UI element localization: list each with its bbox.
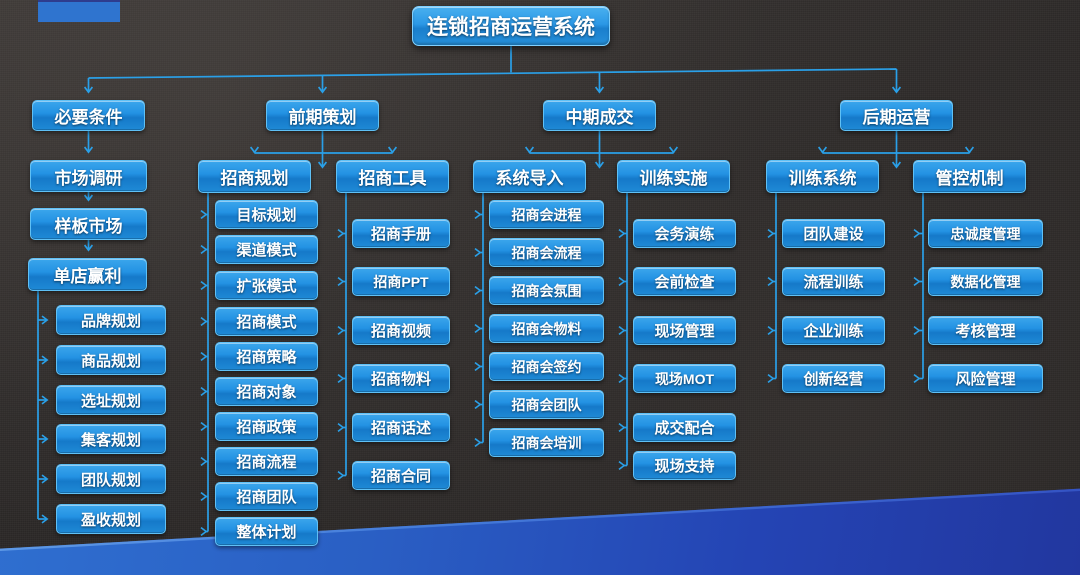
- node-招商政策[interactable]: 招商政策: [215, 412, 318, 441]
- branch-node-1[interactable]: 必要条件: [32, 100, 145, 131]
- node-label: 流程训练: [803, 271, 863, 292]
- node-会前检查[interactable]: 会前检查: [633, 267, 736, 296]
- node-label: 成交配合: [654, 417, 714, 438]
- node-招商会团队[interactable]: 招商会团队: [489, 390, 604, 419]
- node-忠诚度管理[interactable]: 忠诚度管理: [928, 219, 1043, 248]
- node-招商会培训[interactable]: 招商会培训: [489, 428, 604, 457]
- node-label: 招商手册: [371, 223, 431, 244]
- node-现场MOT[interactable]: 现场MOT: [633, 364, 736, 393]
- node-label: 招商政策: [236, 416, 296, 437]
- node-label: 招商会流程: [512, 243, 582, 263]
- node-label: 招商流程: [236, 451, 296, 472]
- node-label: 考核管理: [955, 320, 1015, 341]
- node-招商会签约[interactable]: 招商会签约: [489, 352, 604, 381]
- node-label: 后期运营: [863, 103, 931, 128]
- node-招商对象[interactable]: 招商对象: [215, 377, 318, 406]
- node-选址规划[interactable]: 选址规划: [56, 385, 166, 415]
- node-招商团队[interactable]: 招商团队: [215, 482, 318, 511]
- node-label: 招商会进程: [512, 205, 582, 225]
- node-商品规划[interactable]: 商品规划: [56, 345, 166, 375]
- node-label: 必要条件: [55, 103, 123, 128]
- node-数据化管理[interactable]: 数据化管理: [928, 267, 1043, 296]
- node-label: 选址规划: [81, 390, 141, 411]
- node-会务演练[interactable]: 会务演练: [633, 219, 736, 248]
- node-label: 样板市场: [55, 212, 123, 237]
- node-label: 招商会签约: [512, 357, 582, 377]
- node-label: 招商对象: [236, 381, 296, 402]
- node-label: 连锁招商运营系统: [427, 11, 595, 41]
- node-市场调研[interactable]: 市场调研: [30, 160, 147, 192]
- node-label: 企业训练: [803, 320, 863, 341]
- node-团队建设[interactable]: 团队建设: [782, 219, 885, 248]
- branch-node-2[interactable]: 前期策划: [266, 100, 379, 131]
- node-label: 招商模式: [236, 311, 296, 332]
- node-label: 训练系统: [789, 164, 857, 189]
- node-样板市场[interactable]: 样板市场: [30, 208, 147, 240]
- diagram-canvas: 赢家商学院 连锁招商运营系统必要条件市场调研样板市场单店赢利品牌规划商品规划选址…: [0, 0, 1080, 575]
- node-label: 招商会物料: [512, 319, 582, 339]
- node-label: 团队规划: [81, 469, 141, 490]
- node-label: 市场调研: [55, 164, 123, 189]
- group-node-4-1[interactable]: 训练系统: [766, 160, 879, 193]
- node-label: 招商规划: [221, 164, 289, 189]
- node-label: 招商工具: [359, 164, 427, 189]
- node-扩张模式[interactable]: 扩张模式: [215, 271, 318, 300]
- node-label: 会务演练: [654, 223, 714, 244]
- node-label: 管控机制: [936, 164, 1004, 189]
- node-label: 训练实施: [640, 164, 708, 189]
- node-label: 风险管理: [955, 368, 1015, 389]
- node-label: 团队建设: [803, 223, 863, 244]
- node-label: 招商物料: [371, 368, 431, 389]
- branch-node-4[interactable]: 后期运营: [840, 100, 953, 131]
- node-目标规划[interactable]: 目标规划: [215, 200, 318, 229]
- node-label: 忠诚度管理: [951, 224, 1021, 244]
- node-label: 招商会团队: [512, 395, 582, 415]
- node-招商手册[interactable]: 招商手册: [352, 219, 450, 248]
- node-招商合同[interactable]: 招商合同: [352, 461, 450, 490]
- node-团队规划[interactable]: 团队规划: [56, 464, 166, 494]
- node-成交配合[interactable]: 成交配合: [633, 413, 736, 442]
- node-label: 中期成交: [566, 103, 634, 128]
- node-招商视频[interactable]: 招商视频: [352, 316, 450, 345]
- node-label: 招商合同: [371, 465, 431, 486]
- node-label: 品牌规划: [81, 310, 141, 331]
- group-node-2-2[interactable]: 招商工具: [336, 160, 449, 193]
- node-label: 数据化管理: [951, 272, 1021, 292]
- node-招商会进程[interactable]: 招商会进程: [489, 200, 604, 229]
- node-label: 会前检查: [654, 271, 714, 292]
- node-label: 渠道模式: [236, 239, 296, 260]
- node-label: 目标规划: [236, 204, 296, 225]
- node-label: 前期策划: [289, 103, 357, 128]
- node-label: 单店赢利: [54, 262, 122, 287]
- node-label: 盈收规划: [81, 509, 141, 530]
- node-招商策略[interactable]: 招商策略: [215, 342, 318, 371]
- node-渠道模式[interactable]: 渠道模式: [215, 235, 318, 264]
- node-label: 创新经营: [803, 368, 863, 389]
- node-招商会氛围[interactable]: 招商会氛围: [489, 276, 604, 305]
- node-label: 商品规划: [81, 350, 141, 371]
- root-node-title[interactable]: 连锁招商运营系统: [412, 6, 610, 46]
- node-label: 招商话述: [371, 417, 431, 438]
- group-node-2-1[interactable]: 招商规划: [198, 160, 311, 193]
- node-品牌规划[interactable]: 品牌规划: [56, 305, 166, 335]
- node-盈收规划[interactable]: 盈收规划: [56, 504, 166, 534]
- node-风险管理[interactable]: 风险管理: [928, 364, 1043, 393]
- node-label: 现场管理: [654, 320, 714, 341]
- node-label: 整体计划: [236, 521, 296, 542]
- node-流程训练[interactable]: 流程训练: [782, 267, 885, 296]
- node-现场支持[interactable]: 现场支持: [633, 451, 736, 480]
- node-招商PPT[interactable]: 招商PPT: [352, 267, 450, 296]
- node-招商流程[interactable]: 招商流程: [215, 447, 318, 476]
- node-单店赢利[interactable]: 单店赢利: [28, 258, 147, 291]
- node-label: 招商视频: [371, 320, 431, 341]
- node-label: 现场MOT: [655, 369, 714, 389]
- node-创新经营[interactable]: 创新经营: [782, 364, 885, 393]
- node-招商模式[interactable]: 招商模式: [215, 307, 318, 336]
- node-招商物料[interactable]: 招商物料: [352, 364, 450, 393]
- group-node-3-2[interactable]: 训练实施: [617, 160, 730, 193]
- group-node-3-1[interactable]: 系统导入: [473, 160, 586, 193]
- branch-node-3[interactable]: 中期成交: [543, 100, 656, 131]
- node-label: 系统导入: [496, 164, 564, 189]
- node-label: 招商会氛围: [512, 281, 582, 301]
- node-label: 招商会培训: [512, 433, 582, 453]
- node-label: 招商策略: [236, 346, 296, 367]
- node-label: 集客规划: [81, 429, 141, 450]
- node-label: 招商团队: [236, 486, 296, 507]
- node-label: 现场支持: [654, 455, 714, 476]
- node-招商会流程[interactable]: 招商会流程: [489, 238, 604, 267]
- node-现场管理[interactable]: 现场管理: [633, 316, 736, 345]
- group-node-4-2[interactable]: 管控机制: [913, 160, 1026, 193]
- node-招商会物料[interactable]: 招商会物料: [489, 314, 604, 343]
- node-企业训练[interactable]: 企业训练: [782, 316, 885, 345]
- node-整体计划[interactable]: 整体计划: [215, 517, 318, 546]
- node-label: 扩张模式: [236, 275, 296, 296]
- node-label: 招商PPT: [373, 272, 428, 292]
- node-集客规划[interactable]: 集客规划: [56, 424, 166, 454]
- node-考核管理[interactable]: 考核管理: [928, 316, 1043, 345]
- node-招商话述[interactable]: 招商话述: [352, 413, 450, 442]
